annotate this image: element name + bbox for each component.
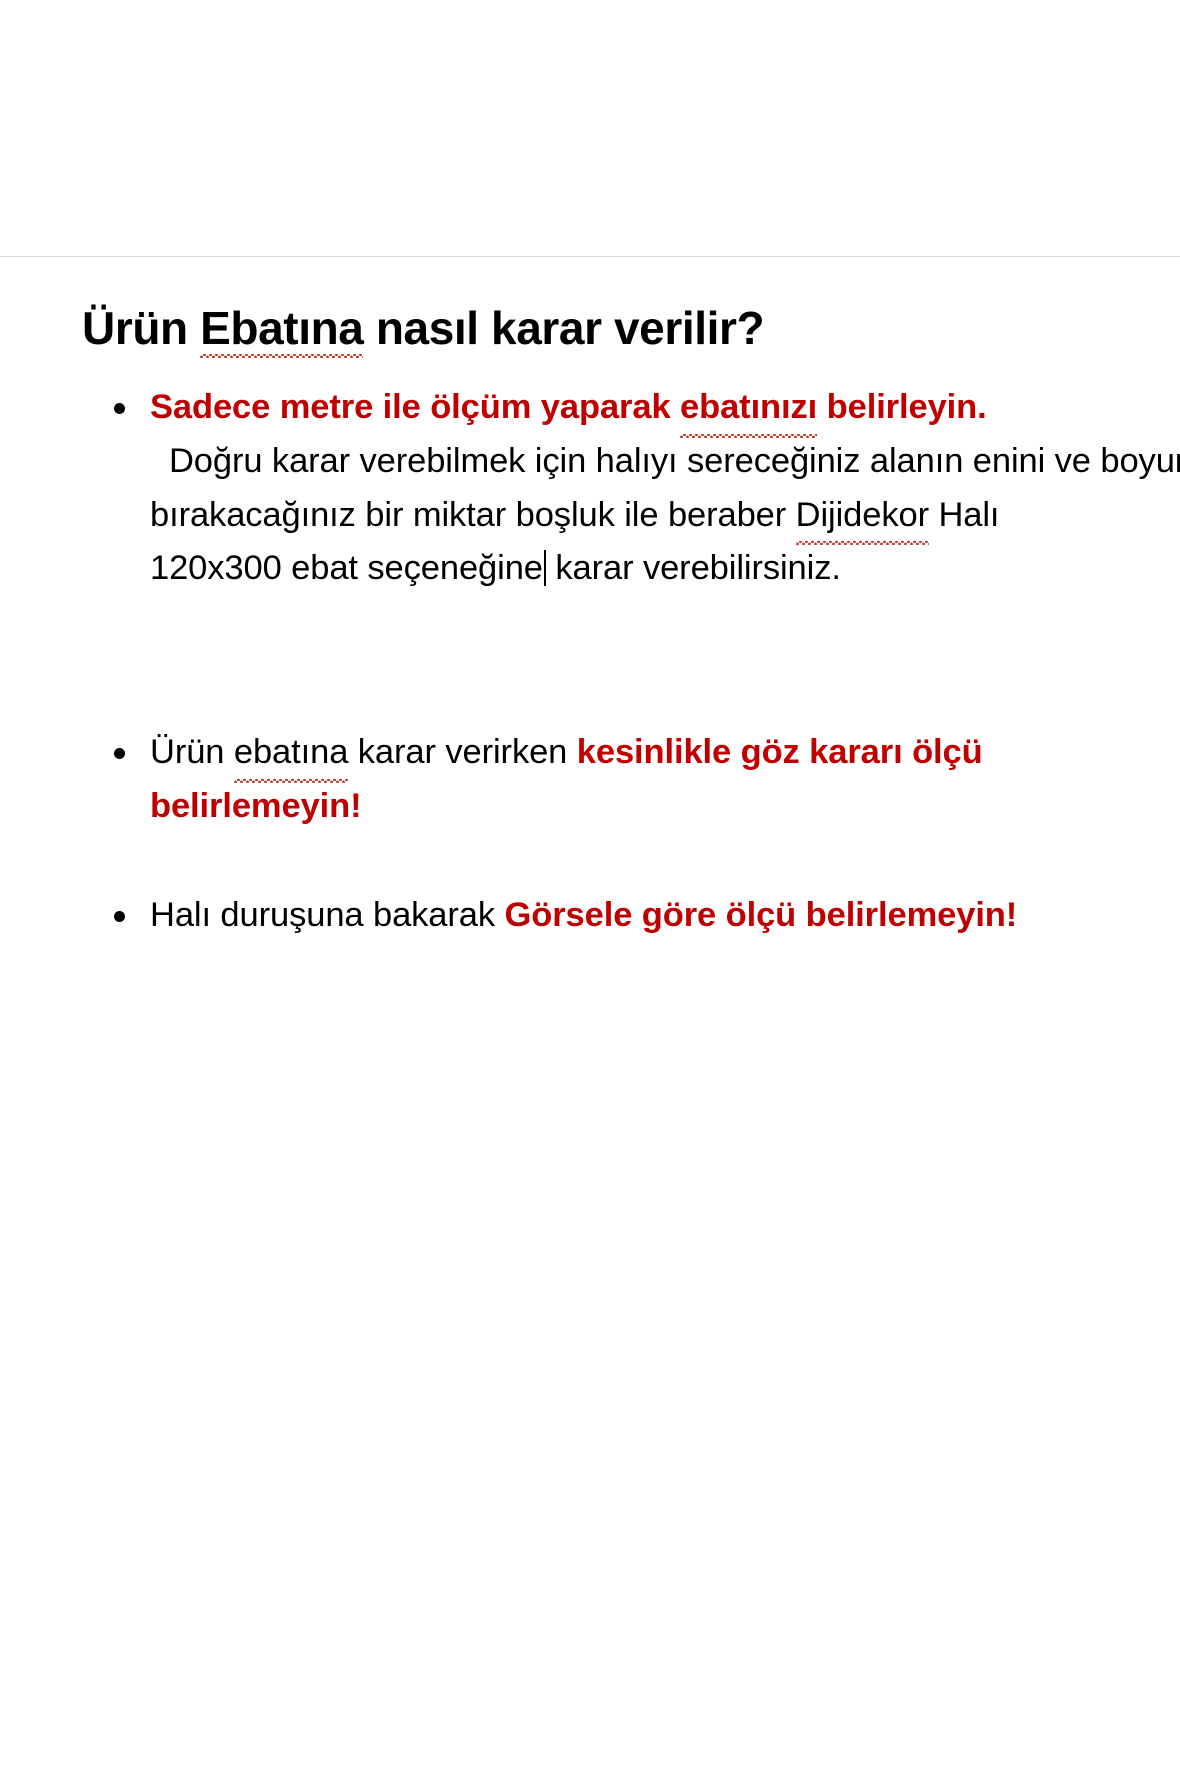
title-misspelled-word: Ebatına — [200, 302, 363, 355]
page-title: Ürün Ebatına nasıl karar verilir? — [82, 302, 1110, 355]
list-item: Halı duruşuna bakarak Görsele göre ölçü … — [82, 889, 1110, 943]
slide-content: Ürün Ebatına nasıl karar verilir? Sadece… — [0, 256, 1180, 1770]
bullet1-run-red-2: belirleyin. — [817, 388, 986, 426]
bullet3-run-black-1: Halı duruşuna bakarak — [150, 896, 505, 934]
bullet1-run-black-1: Doğru karar verebilmek için halıyı serec… — [150, 442, 1180, 480]
title-text-after: nasıl karar verilir? — [363, 302, 764, 354]
list-item: Ürün ebatına karar verirken kesinlikle g… — [82, 726, 1110, 833]
bullet2-misspelled-ebatina: ebatına — [234, 726, 348, 780]
bullet1-run-black-4: karar verebilirsiniz. — [546, 549, 841, 587]
list-item: Sadece metre ile ölçüm yaparak ebatınızı… — [82, 381, 1110, 596]
bullet1-misspelled-ebatinizi: ebatınızı — [680, 381, 817, 435]
bullet1-run-black-2: bırakacağınız bir miktar boşluk ile bera… — [150, 496, 796, 534]
bullet2-run-black-2: karar verirken — [348, 733, 576, 771]
bullet1-run-red-1: Sadece metre ile ölçüm yaparak — [150, 388, 680, 426]
slide-page: Ürün Ebatına nasıl karar verilir? Sadece… — [0, 0, 1180, 1770]
bullet2-run-black-1: Ürün — [150, 733, 234, 771]
title-text-before: Ürün — [82, 302, 200, 354]
bullet3-run-red-1: Görsele göre ölçü belirlemeyin! — [505, 896, 1018, 934]
bullet1-misspelled-dijidekor: Dijidekor — [796, 489, 929, 543]
bullet-list: Sadece metre ile ölçüm yaparak ebatınızı… — [82, 381, 1110, 942]
